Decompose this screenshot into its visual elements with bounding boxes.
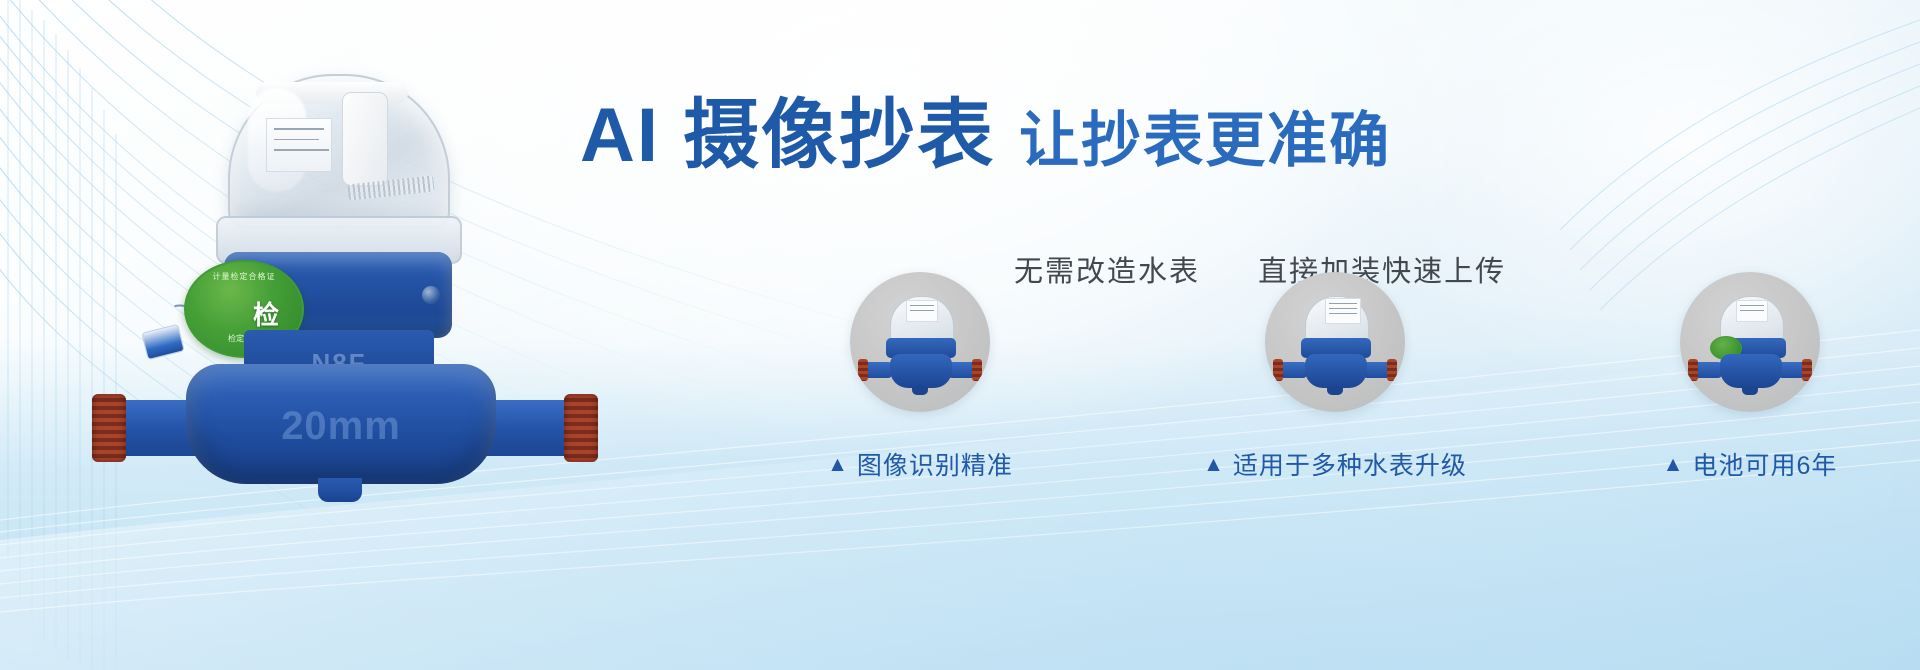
triangle-marker-icon: ▲ bbox=[1203, 454, 1225, 475]
mini-body bbox=[890, 354, 952, 388]
mini-foot bbox=[912, 386, 928, 395]
seal-top-text: 计量检定合格证 bbox=[186, 271, 302, 282]
meter-battery-module bbox=[342, 92, 388, 186]
mini-thread-right bbox=[1387, 359, 1397, 381]
feature-caption-text-3: 电池可用6年 bbox=[1692, 446, 1837, 482]
feature-caption-text-2: 适用于多种水表升级 bbox=[1233, 446, 1467, 482]
meter-size-text: 20mm bbox=[186, 404, 496, 449]
feature-list: ▲ 图像识别精准 ▲ 适用于多种水表升级 bbox=[770, 272, 1900, 502]
headline: AI 摄像抄表 让抄表更准确 bbox=[580, 96, 1880, 176]
mini-body bbox=[1305, 354, 1367, 388]
meter-screw-icon bbox=[422, 286, 440, 304]
triangle-marker-icon: ▲ bbox=[1663, 454, 1685, 475]
seal-tag bbox=[141, 324, 185, 360]
mini-body bbox=[1720, 354, 1782, 388]
mini-foot bbox=[1742, 386, 1758, 395]
mini-label-icon bbox=[1736, 300, 1768, 322]
meter-transparent-dome bbox=[228, 74, 450, 228]
meter-spec-label bbox=[266, 118, 332, 172]
headline-secondary: 让抄表更准确 bbox=[1019, 109, 1391, 172]
hero-product-image: 计量检定合格证 检 检定合格 N8F 20mm bbox=[78, 74, 598, 504]
meter-body: 20mm bbox=[186, 364, 496, 484]
feature-item-meter-compatibility[interactable]: ▲ 适用于多种水表升级 bbox=[1185, 272, 1485, 482]
mini-pipe-left bbox=[864, 362, 892, 378]
feature-item-image-recognition[interactable]: ▲ 图像识别精准 bbox=[770, 272, 1070, 482]
mini-foot bbox=[1327, 386, 1343, 395]
feature-thumbnail-2[interactable] bbox=[1265, 272, 1405, 412]
mini-barcode-label-icon bbox=[1325, 298, 1361, 324]
meter-drain-foot bbox=[318, 478, 362, 502]
mini-thread-right bbox=[1802, 359, 1812, 381]
feature-caption-1: ▲ 图像识别精准 bbox=[827, 446, 1013, 482]
feature-thumbnail-3[interactable] bbox=[1680, 272, 1820, 412]
mini-thread-right bbox=[972, 359, 982, 381]
meter-thread-left bbox=[92, 394, 126, 462]
mini-water-meter-2 bbox=[1265, 272, 1405, 412]
feature-caption-text-1: 图像识别精准 bbox=[857, 446, 1013, 482]
mini-thread-left bbox=[1688, 359, 1698, 381]
headline-primary: AI 摄像抄表 bbox=[580, 96, 995, 176]
seal-center-char: 检 bbox=[253, 295, 279, 332]
mini-pipe-left bbox=[1694, 362, 1722, 378]
mini-thread-left bbox=[858, 359, 868, 381]
mini-water-meter-1 bbox=[850, 272, 990, 412]
feature-thumbnail-1[interactable] bbox=[850, 272, 990, 412]
feature-caption-2: ▲ 适用于多种水表升级 bbox=[1203, 446, 1467, 482]
triangle-marker-icon: ▲ bbox=[827, 454, 849, 475]
meter-thread-right bbox=[564, 394, 598, 462]
feature-item-battery-life[interactable]: ▲ 电池可用6年 bbox=[1600, 272, 1900, 482]
feature-caption-3: ▲ 电池可用6年 bbox=[1663, 446, 1838, 482]
promo-banner: 计量检定合格证 检 检定合格 N8F 20mm AI 摄像抄表 让抄表更准确 无… bbox=[0, 0, 1920, 670]
mini-pipe-left bbox=[1279, 362, 1307, 378]
mini-label-icon bbox=[906, 300, 938, 322]
mini-thread-left bbox=[1273, 359, 1283, 381]
mini-water-meter-3 bbox=[1680, 272, 1820, 412]
